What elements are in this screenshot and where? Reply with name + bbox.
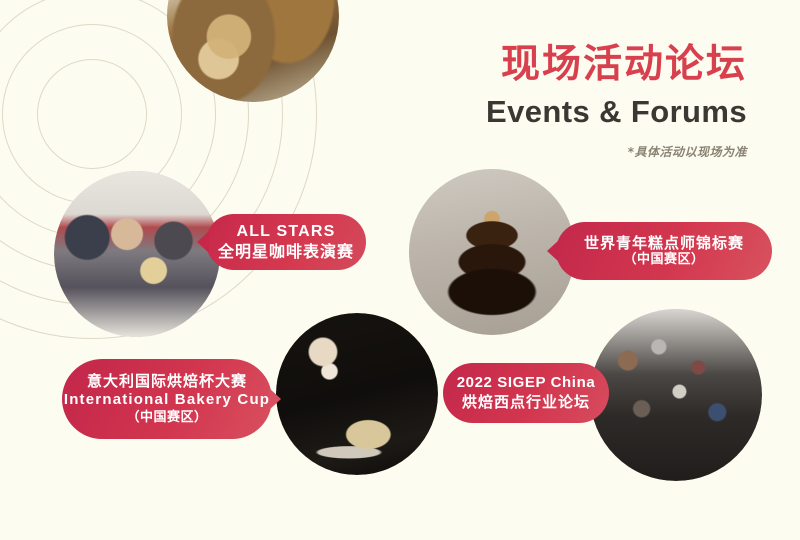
photo-forum-audience [590,309,762,481]
title-disclaimer-note: *具体活动以现场为准 [417,143,747,160]
label-sigep-china-forum-line-1: 2022 SIGEP China [457,374,596,393]
events-forums-poster: 现场活动论坛 Events & Forums *具体活动以现场为准 ALL ST… [0,0,800,540]
photo-bread-loaves-image [167,0,339,102]
label-all-stars[interactable]: ALL STARS 全明星咖啡表演赛 [206,214,366,270]
label-world-youth-pastry-line-1: 世界青年糕点师锦标赛 [584,234,744,253]
label-international-bakery-cup-line-1: 意大利国际烘焙杯大赛 [87,372,247,391]
pill-tail-icon [269,388,281,410]
label-sigep-china-forum[interactable]: 2022 SIGEP China 烘焙西点行业论坛 [443,363,609,423]
label-international-bakery-cup-line-2: International Bakery Cup [64,391,270,410]
pill-tail-icon [547,240,559,262]
photo-bread-loaves [167,0,339,102]
label-world-youth-pastry-line-2: （中国赛区） [623,252,704,268]
photo-coffee-judging-panel-image [54,171,220,337]
label-international-bakery-cup[interactable]: 意大利国际烘焙杯大赛 International Bakery Cup （中国赛… [62,359,272,439]
photo-baker-dusting-flour-image [276,313,438,475]
photo-forum-audience-image [590,309,762,481]
page-title-en: Events & Forums [417,93,747,130]
label-all-stars-line-2: 全明星咖啡表演赛 [218,242,354,262]
label-sigep-china-forum-line-2: 烘焙西点行业论坛 [462,393,590,412]
label-world-youth-pastry[interactable]: 世界青年糕点师锦标赛 （中国赛区） [556,222,772,280]
ring-1 [37,59,147,169]
pill-tail-icon [197,231,209,253]
page-title-cn: 现场活动论坛 [417,44,747,86]
label-international-bakery-cup-line-3: （中国赛区） [126,410,207,426]
poster-title-block: 现场活动论坛 Events & Forums *具体活动以现场为准 [417,44,747,160]
photo-baker-dusting-flour [276,313,438,475]
photo-coffee-judging-panel [54,171,220,337]
label-all-stars-line-1: ALL STARS [236,222,335,242]
